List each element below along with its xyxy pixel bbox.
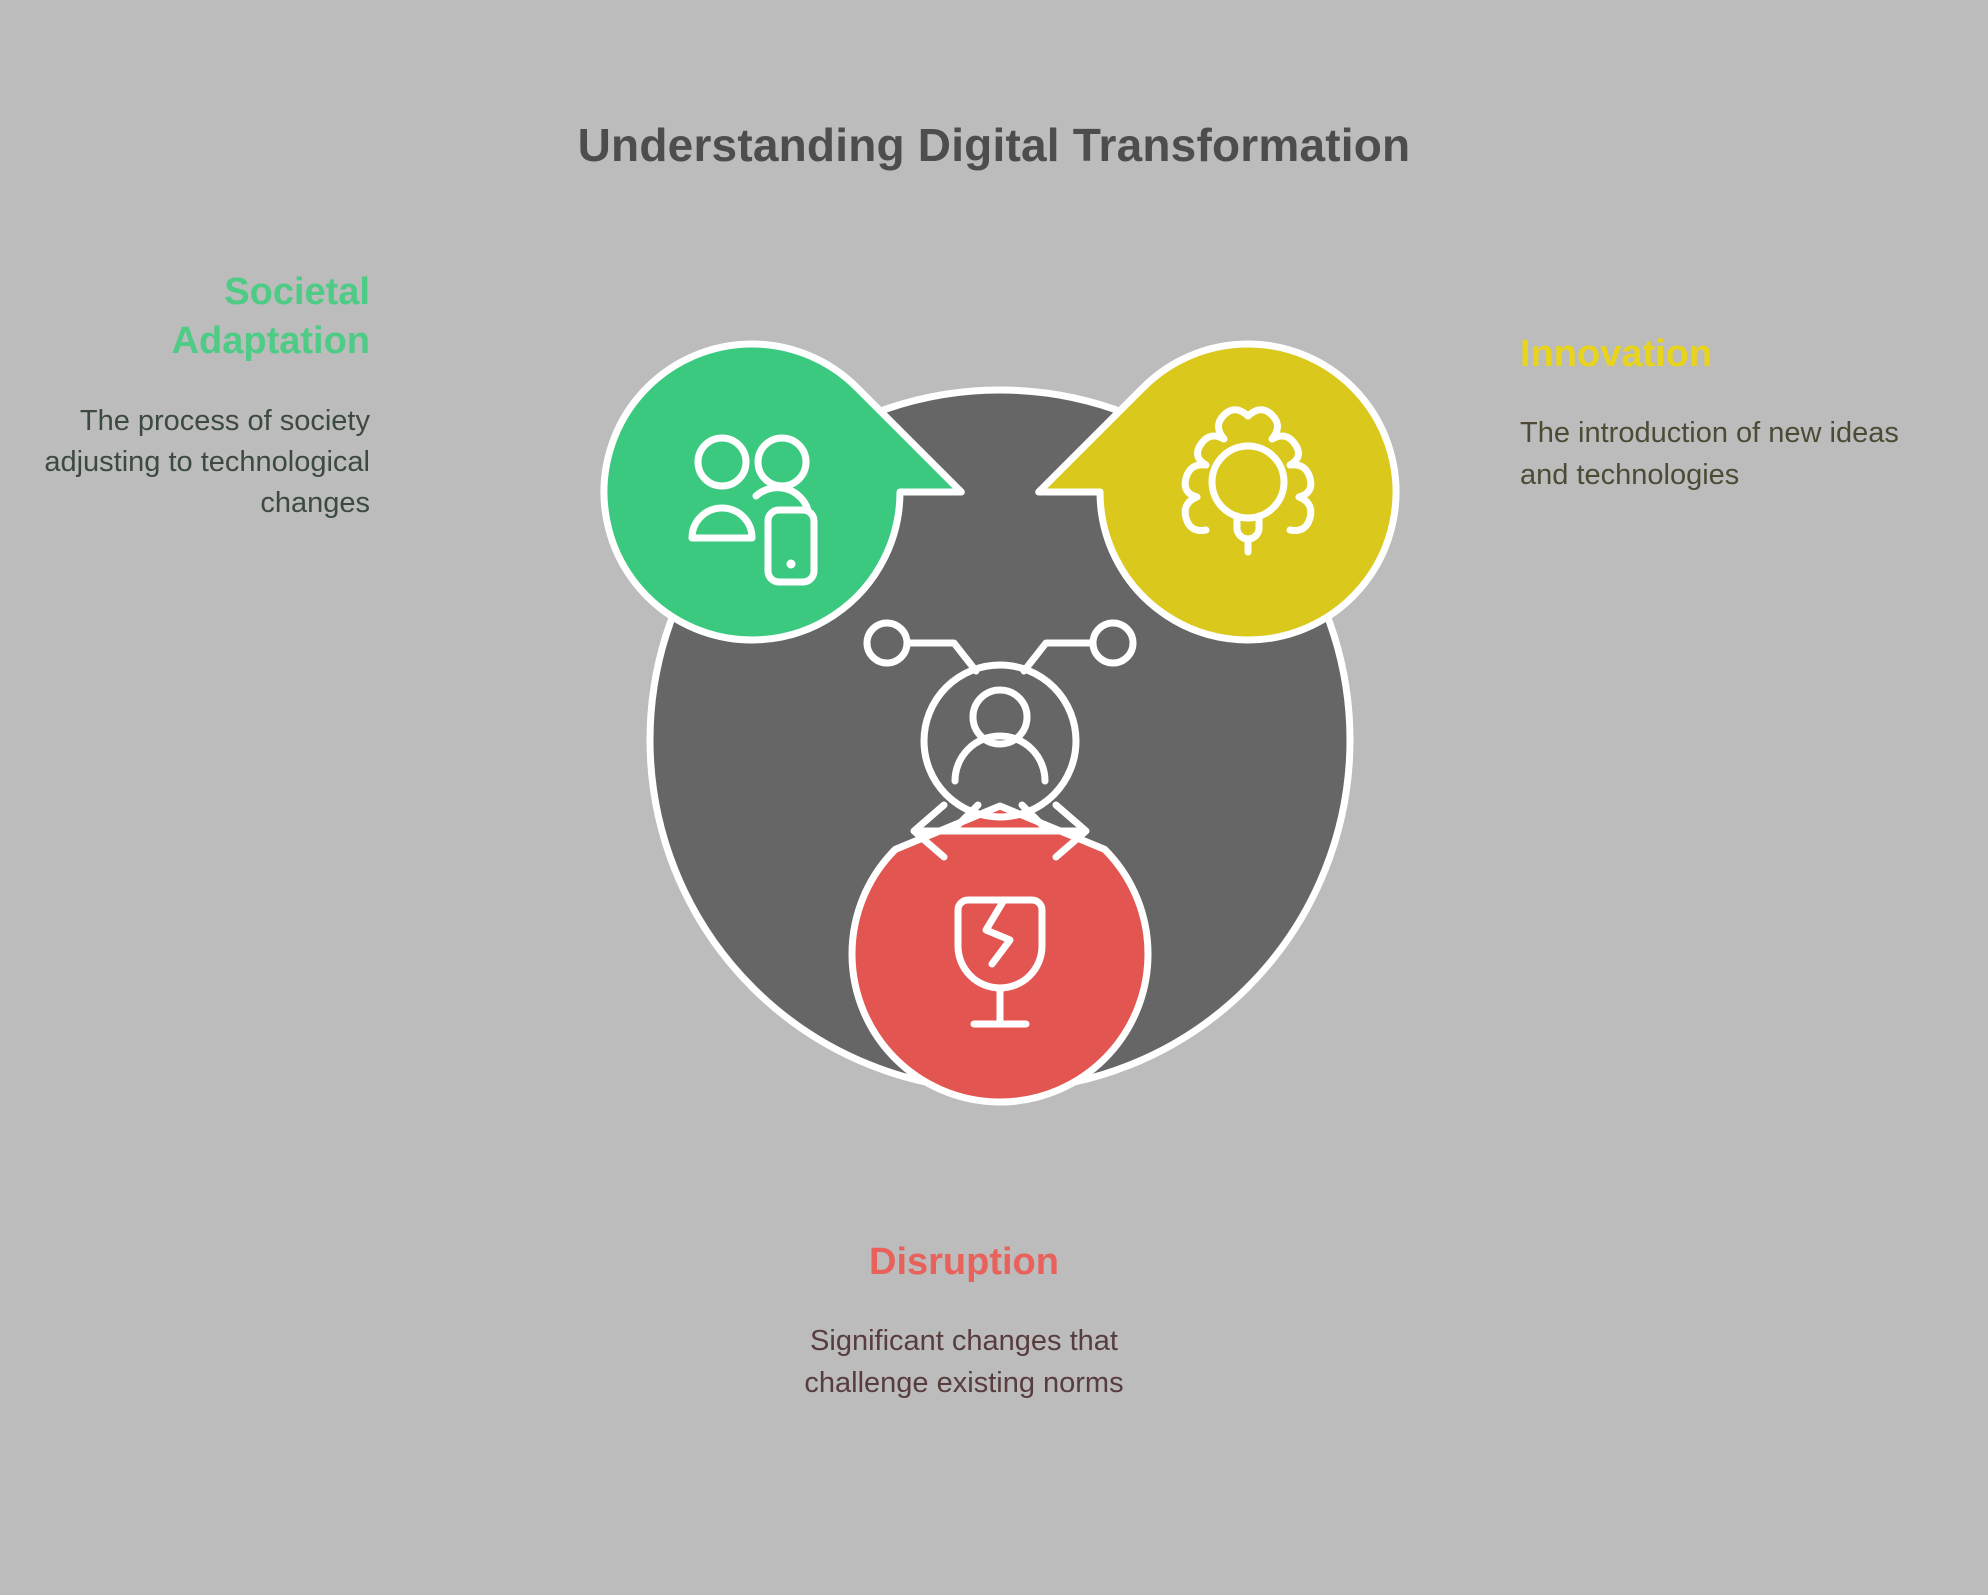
node-disruption[interactable] (852, 806, 1148, 1102)
body-disruption: Significant changes that challenge exist… (744, 1321, 1184, 1403)
page-title: Understanding Digital Transformation (0, 118, 1988, 172)
text-block-innovation: Innovation The introduction of new ideas… (1520, 330, 1940, 496)
heading-disruption: Disruption (744, 1238, 1184, 1287)
text-block-disruption: Disruption Significant changes that chal… (744, 1238, 1184, 1404)
body-innovation: The introduction of new ideas and techno… (1520, 413, 1940, 495)
infographic-root: Understanding Digital Transformation (0, 0, 1988, 1595)
heading-innovation: Innovation (1520, 330, 1940, 379)
body-societal-adaptation: The process of society adjusting to tech… (30, 401, 370, 525)
diagram-stage (500, 280, 1500, 1200)
heading-societal-adaptation: Societal Adaptation (30, 268, 370, 367)
text-block-societal-adaptation: Societal Adaptation The process of socie… (30, 268, 370, 524)
